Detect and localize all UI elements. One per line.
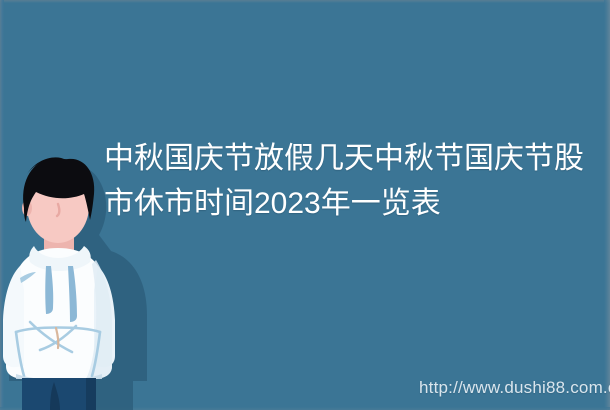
image-canvas: 中秋国庆节放假几天中秋节国庆节股市休市时间2023年一览表 http://www… [0, 0, 610, 410]
page-title: 中秋国庆节放假几天中秋节国庆节股市休市时间2023年一览表 [104, 136, 590, 226]
right-edge-strip [604, 0, 610, 410]
pants-shade-right [86, 378, 96, 410]
watermark-url: http://www.dushi88.com.cn [419, 378, 610, 398]
top-edge-strip [0, 0, 610, 3]
